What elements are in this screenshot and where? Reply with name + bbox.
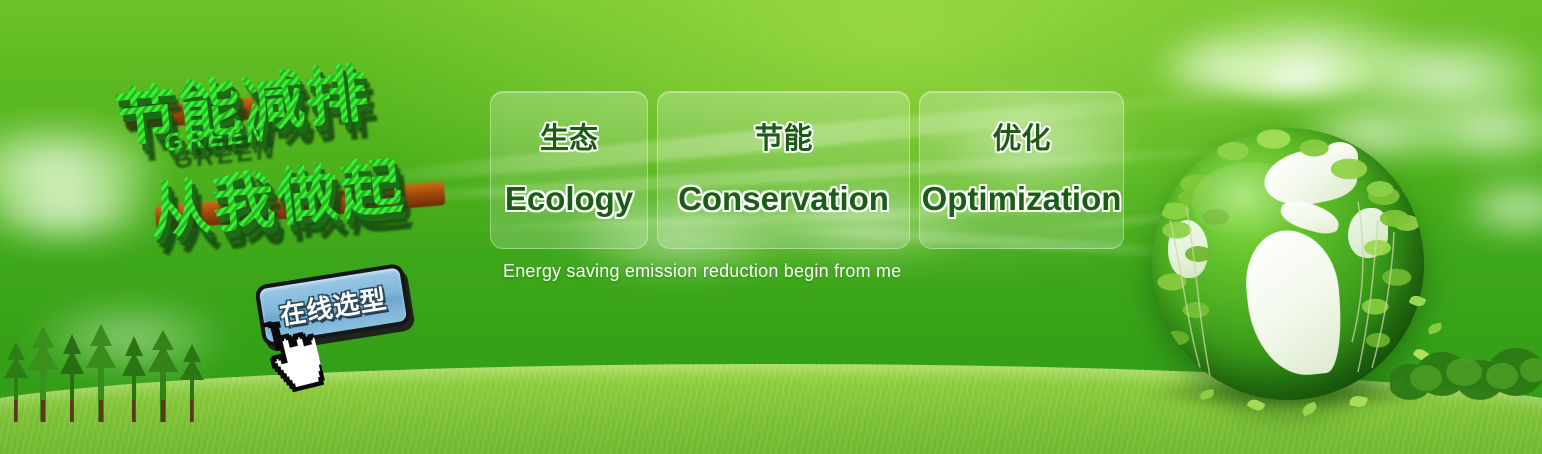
headline-line-2: GREEN — [162, 119, 268, 159]
feature-card-title-en: Ecology — [505, 182, 633, 215]
online-selection-button-label: 在线选型 — [277, 278, 389, 331]
headline-line-3: 从我做起 — [144, 135, 408, 251]
cloud-icon — [1180, 10, 1430, 96]
leaf-covered-globe-icon — [1152, 128, 1424, 400]
headline-base-block — [124, 97, 255, 130]
cloud-icon — [0, 168, 160, 242]
banner-tagline: Energy saving emission reduction begin f… — [503, 261, 901, 282]
feature-card-ecology[interactable]: 生态 Ecology — [490, 91, 648, 249]
feature-card-title-en: Conservation — [678, 182, 889, 215]
cloud-icon — [30, 300, 230, 370]
globe-highlight — [1192, 162, 1312, 242]
cloud-icon — [1330, 34, 1542, 112]
headline-base-block — [155, 181, 446, 230]
falling-leaf-icon — [1427, 322, 1443, 334]
feature-card-title-cn: 节能 — [754, 125, 812, 154]
cloud-icon — [1150, 38, 1280, 94]
feature-card-title-cn: 优化 — [992, 125, 1050, 154]
feature-card-list: 生态 Ecology 节能 Conservation 优化 Optimizati… — [490, 91, 1124, 249]
online-selection-button[interactable]: 在线选型 — [254, 263, 412, 348]
globe-sphere — [1152, 128, 1424, 400]
feature-card-conservation[interactable]: 节能 Conservation — [657, 91, 910, 249]
headline-art: 节能减排 GREEN 从我做起 — [93, 23, 495, 291]
cloud-icon — [1455, 180, 1542, 232]
cloud-icon — [0, 118, 170, 210]
button-surface[interactable]: 在线选型 — [254, 263, 412, 348]
eco-promo-banner: 节能减排 GREEN 从我做起 生态 Ecology 节能 Conservati… — [0, 0, 1542, 454]
feature-card-title-cn: 生态 — [540, 125, 598, 154]
falling-leaf-icon — [1447, 370, 1465, 388]
vine-strands — [1152, 128, 1424, 400]
feature-card-optimization[interactable]: 优化 Optimization — [919, 91, 1124, 249]
headline-line-1: 节能减排 — [110, 42, 374, 158]
feature-card-title-en: Optimization — [922, 182, 1122, 215]
cloud-icon — [1210, 46, 1380, 102]
